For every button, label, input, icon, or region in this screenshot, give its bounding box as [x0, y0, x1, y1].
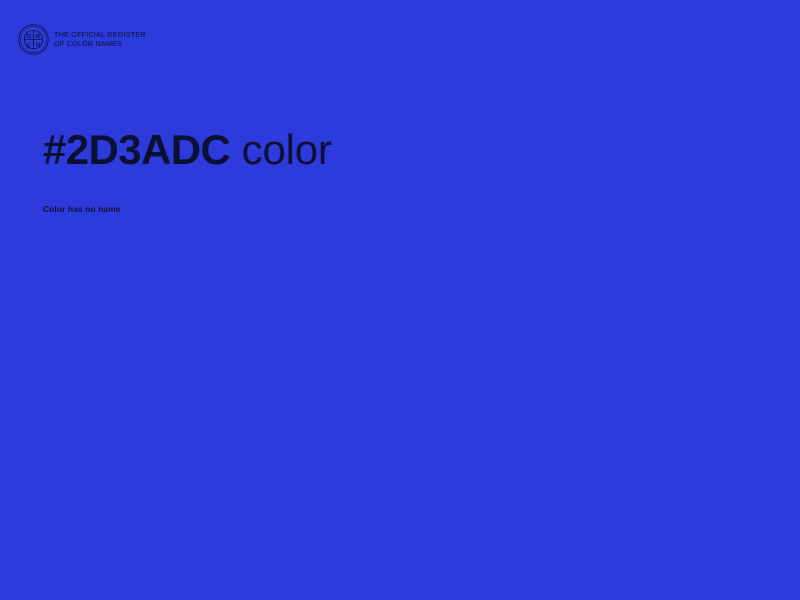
color-page: O R C N THE OFFICIAL REGISTER OF COLOR N…: [0, 0, 800, 600]
svg-text:R: R: [36, 34, 40, 40]
page-title-suffix: color: [230, 126, 332, 173]
color-name-status: Color has no name: [43, 174, 743, 214]
register-wordmark: THE OFFICIAL REGISTER OF COLOR NAMES: [54, 31, 146, 49]
wordmark-line-2: OF COLOR NAMES: [54, 40, 146, 49]
page-title: #2D3ADC color: [43, 126, 743, 174]
svg-text:O: O: [27, 34, 32, 40]
site-masthead[interactable]: O R C N THE OFFICIAL REGISTER OF COLOR N…: [18, 24, 146, 55]
svg-text:C: C: [27, 42, 31, 48]
color-detail-block: #2D3ADC color Color has no name: [43, 126, 743, 214]
register-seal-icon: O R C N: [18, 24, 49, 55]
color-hex-code: #2D3ADC: [43, 126, 230, 173]
svg-text:N: N: [36, 42, 40, 48]
